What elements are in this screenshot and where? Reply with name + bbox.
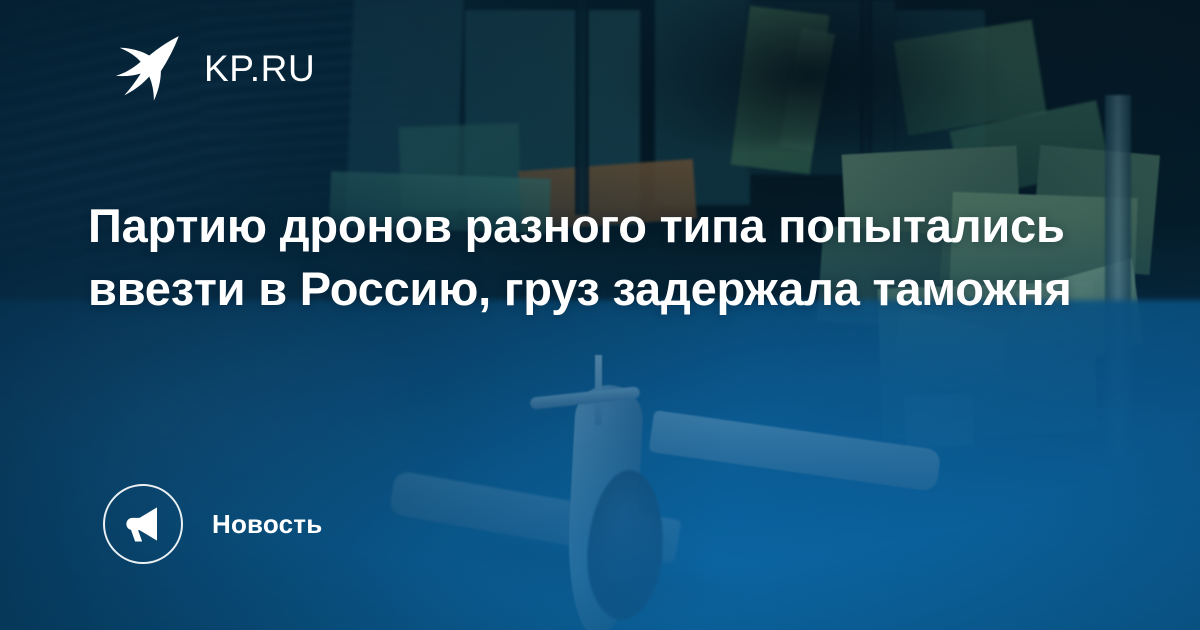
badge-circle — [103, 484, 183, 564]
brand-logo[interactable]: KP.RU — [104, 33, 315, 103]
category-badge[interactable]: Новость — [103, 484, 322, 564]
badge-label: Новость — [212, 511, 322, 537]
news-share-card: KP.RU Партию дронов разного типа попытал… — [0, 0, 1200, 630]
megaphone-icon — [122, 503, 164, 545]
brand-wordmark: KP.RU — [204, 50, 315, 87]
headline: Партию дронов разного типа попытались вв… — [88, 194, 1088, 320]
bird-logo-icon — [104, 33, 182, 103]
